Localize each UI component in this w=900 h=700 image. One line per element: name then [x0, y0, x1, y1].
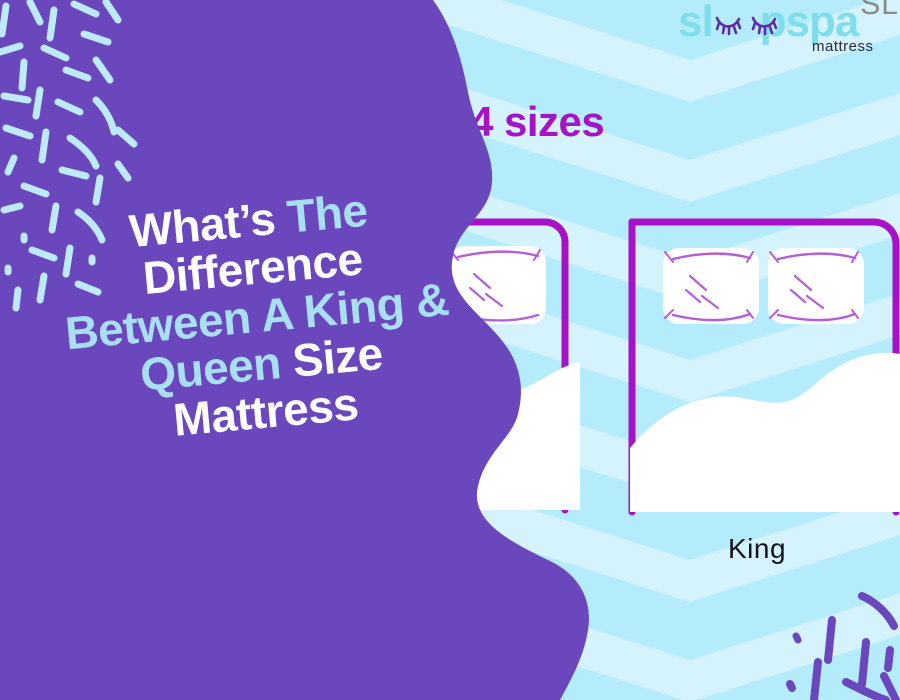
brand-wordmark-head: sl	[678, 0, 713, 46]
closed-eyes-icon	[714, 10, 780, 40]
poster-canvas: 4 sizes	[0, 0, 900, 700]
king-bed-label: King	[728, 533, 786, 565]
headline-word: Size	[290, 327, 384, 387]
brand-subtitle: mattress	[812, 38, 874, 55]
brand-logo[interactable]: SLE sleepspa mattress	[672, 0, 900, 74]
headline-word: A	[258, 287, 294, 342]
headline-word: &	[414, 273, 451, 328]
page-title: What’s The Difference Between A King & Q…	[12, 175, 502, 457]
brand-ghost-text: SLE	[860, 0, 900, 22]
